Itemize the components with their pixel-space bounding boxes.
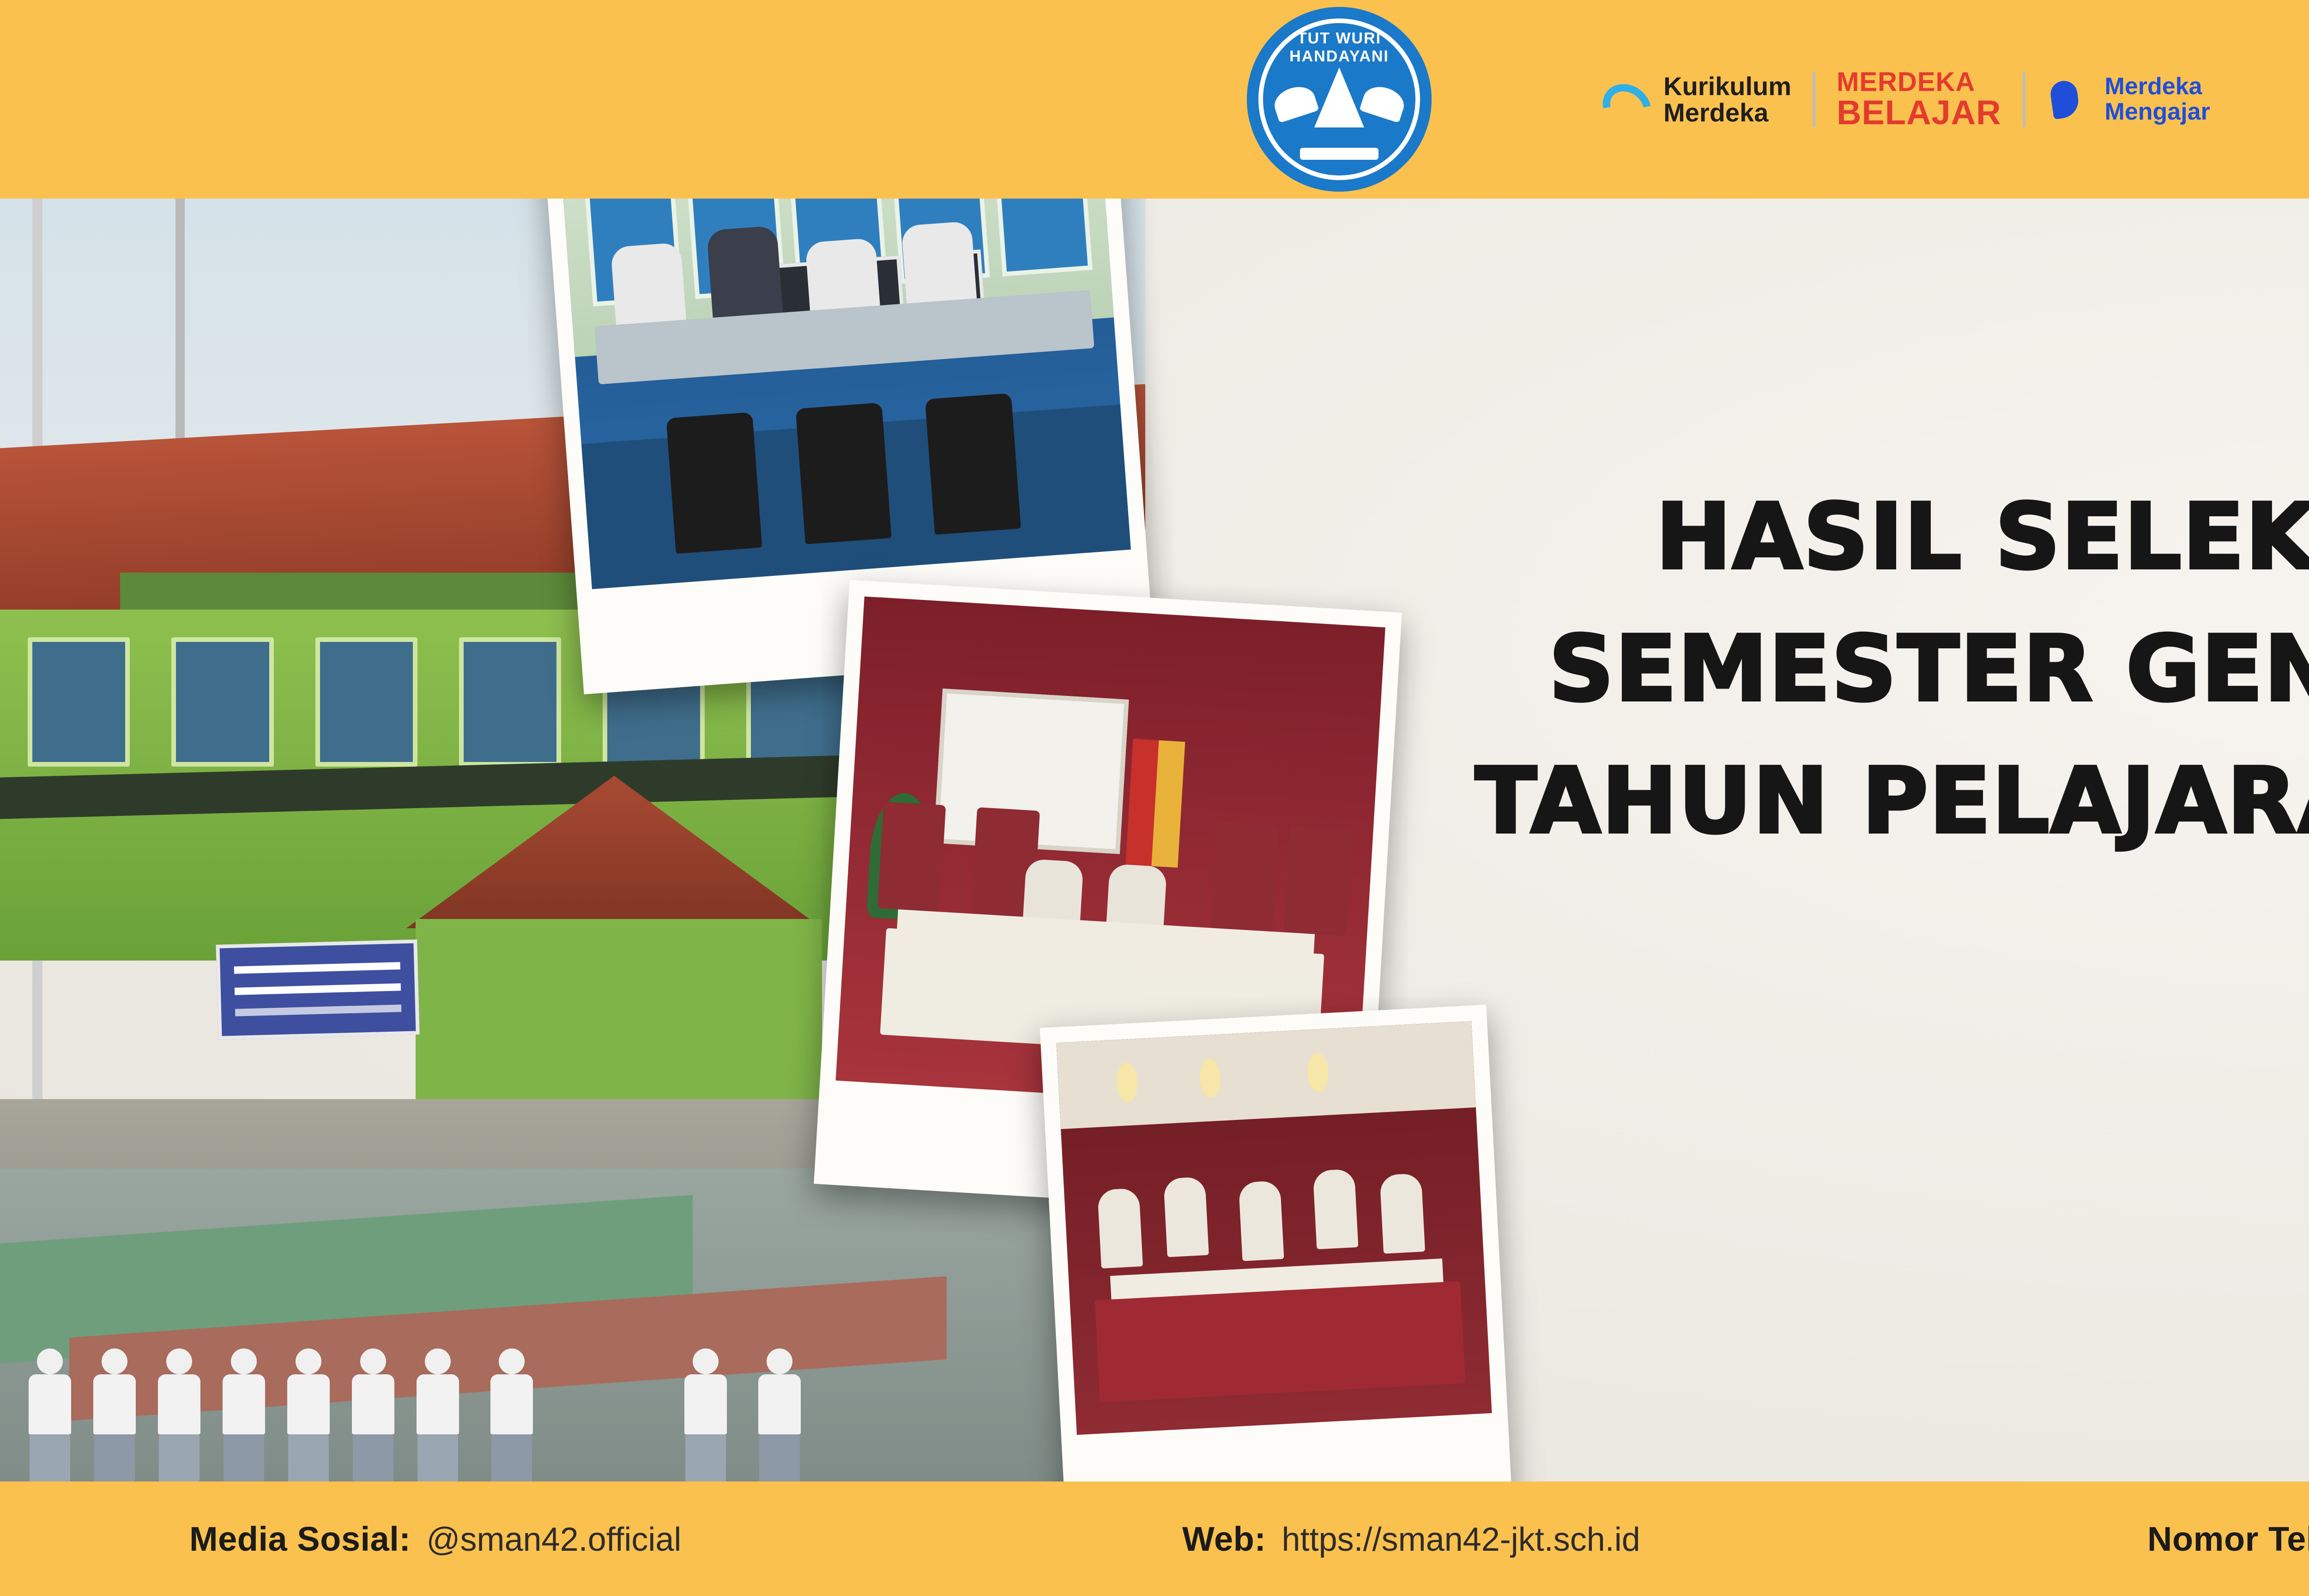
social-value[interactable]: @sman42.official [426, 1521, 681, 1559]
tut-wuri-handayani-label: TUT WURI HANDAYANI [1263, 30, 1415, 66]
merdeka-belajar-line1: MERDEKA [1837, 69, 2001, 96]
contact-social: Media Sosial: @sman42.official [189, 1519, 681, 1559]
kurikulum-merdeka-line2: Merdeka [1663, 99, 1791, 126]
footer-bar: Media Sosial: @sman42.official Web: http… [0, 1481, 2309, 1596]
merdeka-belajar-line2: BELAJAR [1837, 96, 2001, 130]
school-announcement-banner: TUT WURI HANDAYANI Kurikulum Merdeka MER… [0, 0, 2309, 1596]
tut-wuri-handayani-logo: TUT WURI HANDAYANI [1224, 0, 1455, 199]
merdeka-mengajar-leaf-icon [2047, 76, 2084, 122]
web-label: Web: [1182, 1519, 1266, 1559]
adiwiyata-logo: ADIWIYATA [2300, 0, 2309, 199]
photo-assembly-hall-image [1056, 1021, 1492, 1435]
divider [1813, 72, 1815, 127]
phone-label: Nomor Telepon: [2147, 1519, 2309, 1559]
headline-line-2: SEMESTER GENAP TAHAP 2 [1413, 603, 2309, 735]
photo-assembly-hall [1040, 1004, 1513, 1540]
web-value[interactable]: https://sman42-jkt.sch.id [1282, 1521, 1640, 1559]
contact-web: Web: https://sman42-jkt.sch.id [1182, 1519, 1640, 1559]
kurikulum-merdeka-swoosh-icon [1600, 78, 1642, 121]
logo-base [1300, 148, 1378, 160]
wall-banner [216, 939, 419, 1040]
merdeka-logos-group: Kurikulum Merdeka MERDEKA BELAJAR Merdek… [1598, 0, 2212, 199]
merdeka-mengajar-line1: Merdeka [2105, 74, 2210, 99]
contact-phone: Nomor Telepon: 021-8093926 [2147, 1519, 2309, 1559]
headline-line-3: TAHUN PELAJARAN 2023/2024 [1413, 735, 2309, 867]
wing-right-icon [1359, 82, 1408, 123]
divider [2023, 72, 2025, 127]
header-bar-left-block [0, 0, 1164, 199]
social-label: Media Sosial: [189, 1519, 411, 1559]
flame-icon [1314, 67, 1364, 127]
entrance-porch [416, 919, 822, 1104]
kurikulum-merdeka-line1: Kurikulum [1663, 73, 1791, 99]
headline-line-1: HASIL SELEKSI MUTASI [1413, 471, 2309, 603]
headline: HASIL SELEKSI MUTASI SEMESTER GENAP TAHA… [1413, 471, 2309, 867]
merdeka-mengajar-line2: Mengajar [2105, 99, 2210, 125]
students-lineup [0, 1284, 1016, 1482]
wing-left-icon [1270, 82, 1319, 123]
